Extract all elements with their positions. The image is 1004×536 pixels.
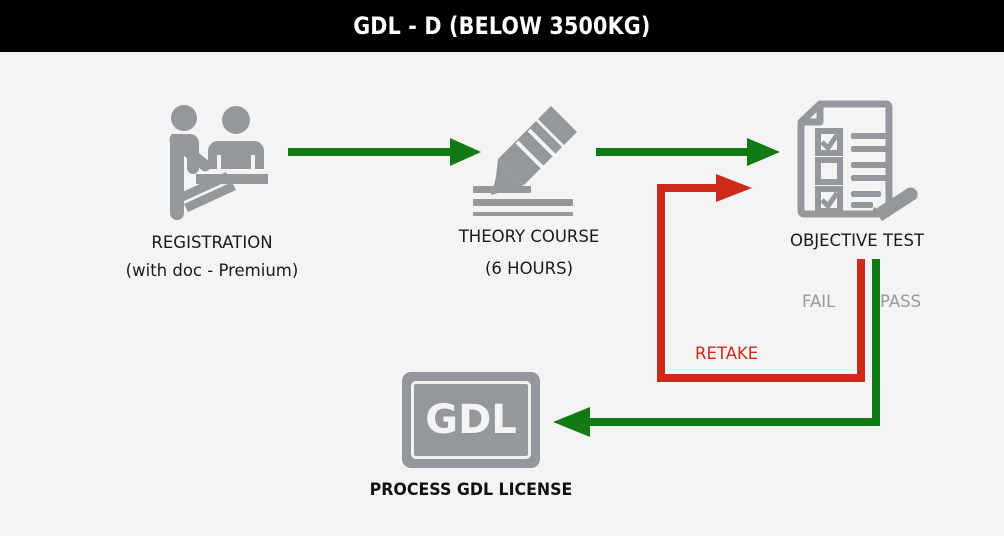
page-title: GDL - D (BELOW 3500KG) [353, 12, 650, 40]
pass-fail-labels: FAIL PASS [746, 292, 968, 320]
page-header: GDL - D (BELOW 3500KG) [0, 0, 1004, 52]
node-registration-label-line1: REGISTRATION [86, 232, 338, 254]
node-theory-course: THEORY COURSE (6 HOURS) [404, 98, 654, 280]
gdl-card-text: GDL [425, 400, 517, 440]
fail-label: FAIL [802, 292, 835, 311]
node-process-gdl-license: GDL PROCESS GDL LICENSE [346, 372, 596, 500]
node-theory-label-line1: THEORY COURSE [404, 226, 654, 248]
node-theory-label-line2: (6 HOURS) [404, 258, 654, 280]
pencil-writing-icon [465, 98, 593, 216]
registration-counter-icon [148, 98, 276, 226]
gdl-license-card-icon: GDL [402, 372, 540, 468]
gdl-card-inner-border: GDL [411, 381, 531, 459]
pass-label: PASS [880, 292, 921, 311]
checklist-document-pen-icon [796, 98, 918, 224]
node-gdl-label: PROCESS GDL LICENSE [355, 480, 588, 500]
node-registration-label-line2: (with doc - Premium) [86, 260, 338, 282]
flowchart-canvas: REGISTRATION (with doc - Premium) [0, 52, 1004, 536]
node-registration: REGISTRATION (with doc - Premium) [86, 98, 338, 282]
node-objective-label-line1: OBJECTIVE TEST [746, 230, 968, 252]
flowchart-page: GDL - D (BELOW 3500KG) [0, 0, 1004, 536]
retake-label: RETAKE [690, 344, 763, 363]
node-objective-test: OBJECTIVE TEST [746, 98, 968, 252]
